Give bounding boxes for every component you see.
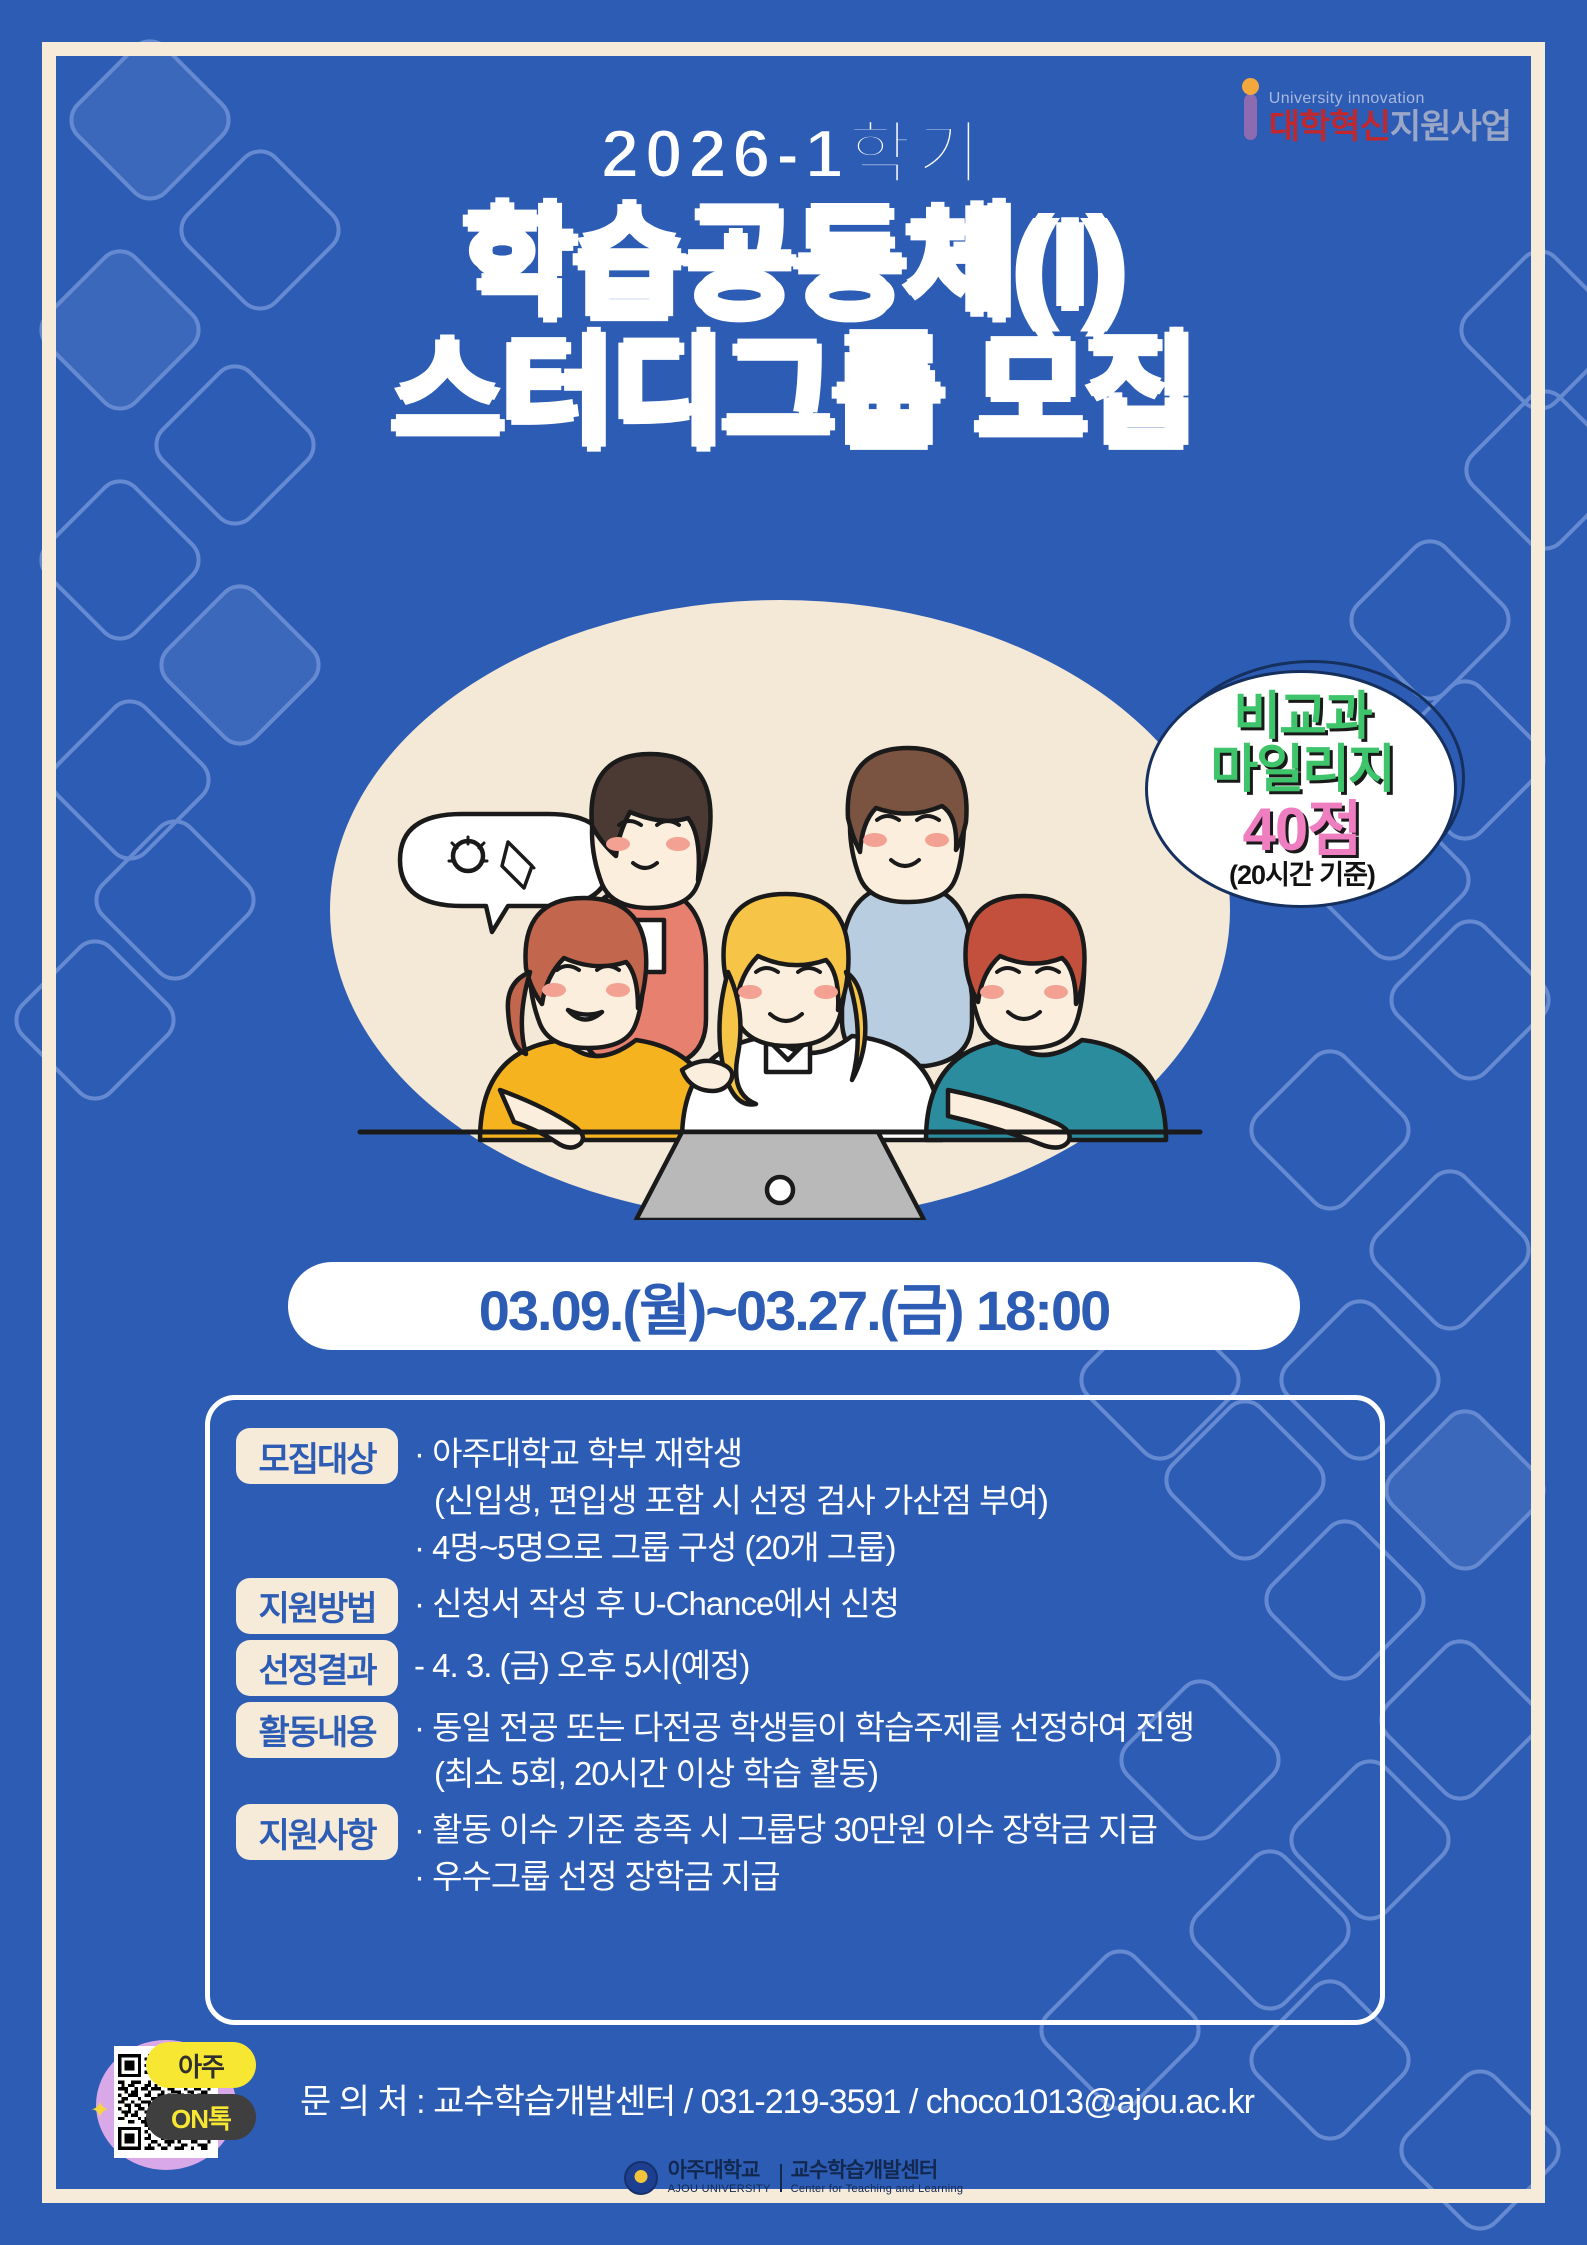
center-name-kr: 교수학습개발센터 [791,2160,964,2181]
title-block: 2026-1학기 학습공동체(I) 스터디그룹 모집 [0,120,1587,459]
label-activity-content: 활동내용 [236,1702,398,1758]
info-line: · 동일 전공 또는 다전공 학생들이 학습주제를 선정하여 진행 [414,1705,1354,1752]
ui-logo-korean-gray: 지원사업 [1390,108,1511,146]
info-line: - 4. 3. (금) 오후 5시(예정) [414,1643,1354,1690]
info-line: · 아주대학교 학부 재학생 [414,1431,1354,1478]
ajou-footer-logo: 아주대학교 AJOU UNIVERSITY 교수학습개발센터 Center fo… [0,2160,1587,2195]
ui-logo-english: University innovation [1269,91,1511,107]
university-innovation-logo: University innovation 대학혁신지원사업 [1199,78,1511,146]
badge-on-talk[interactable]: ON톡 [146,2094,256,2140]
university-name-en: AJOU UNIVERSITY [668,2184,771,2195]
application-period-text: 03.09.(월)~03.27.(금) 18:00 [479,1266,1110,1347]
info-row-selection-result: 선정결과 - 4. 3. (금) 오후 5시(예정) [236,1640,1354,1696]
application-period-banner: 03.09.(월)~03.27.(금) 18:00 [288,1262,1300,1350]
label-application-method: 지원방법 [236,1578,398,1634]
info-line: · 4명~5명으로 그룹 구성 (20개 그룹) [414,1525,1354,1572]
details-box: 모집대상 · 아주대학교 학부 재학생 (신입생, 편입생 포함 시 선정 검사… [205,1395,1385,2025]
illustration-area: 비교과 마일리지 40점 (20시간 기준) [0,580,1587,1260]
ui-logo-korean-red: 대학혁신 [1269,108,1390,146]
students-group-illustration [330,620,1230,1220]
info-row-activity-content: 활동내용 · 동일 전공 또는 다전공 학생들이 학습주제를 선정하여 진행 (… [236,1702,1354,1799]
info-row-application-method: 지원방법 · 신청서 작성 후 U-Chance에서 신청 [236,1578,1354,1634]
center-name-en: Center for Teaching and Learning [791,2184,964,2195]
mileage-line1: 비교과 [1210,691,1393,744]
mileage-points: 40점 [1210,799,1393,860]
footer: ✦ [0,2030,1587,2230]
label-support: 지원사항 [236,1804,398,1860]
ajou-emblem-icon [624,2161,658,2195]
logo-divider [780,2164,782,2192]
label-recruitment-target: 모집대상 [236,1428,398,1484]
mileage-line2: 마일리지 [1210,744,1393,797]
university-name-kr: 아주대학교 [668,2160,771,2181]
info-line: · 신청서 작성 후 U-Chance에서 신청 [414,1581,1354,1628]
contact-info: 문 의 처 : 교수학습개발센터 / 031-219-3591 / choco1… [300,2074,1254,2123]
info-line: (신입생, 편입생 포함 시 선정 검사 가산점 부여) [414,1478,1354,1525]
info-row-recruitment-target: 모집대상 · 아주대학교 학부 재학생 (신입생, 편입생 포함 시 선정 검사… [236,1428,1354,1572]
main-title-line1: 학습공동체(I) [0,200,1587,329]
mileage-note: (20시간 기준) [1210,862,1393,890]
label-selection-result: 선정결과 [236,1640,398,1696]
info-line: · 활동 이수 기준 충족 시 그룹당 30만원 이수 장학금 지급 [414,1807,1354,1854]
info-line: (최소 5회, 20시간 이상 학습 활동) [414,1751,1354,1798]
ui-logo-mark-icon [1199,78,1259,146]
mileage-badge: 비교과 마일리지 40점 (20시간 기준) [1137,660,1467,920]
badge-ajou[interactable]: 아주 [146,2042,256,2088]
main-title-line2: 스터디그룹 모집 [0,329,1587,458]
sparkle-icon: ✦ [90,2096,110,2125]
info-row-support: 지원사항 · 활동 이수 기준 충족 시 그룹당 30만원 이수 장학금 지급 … [236,1804,1354,1901]
info-line: · 우수그룹 선정 장학금 지급 [414,1854,1354,1901]
kakao-badges: 아주 ON톡 [146,2042,256,2146]
poster-root: University innovation 대학혁신지원사업 2026-1학기 … [0,0,1587,2245]
